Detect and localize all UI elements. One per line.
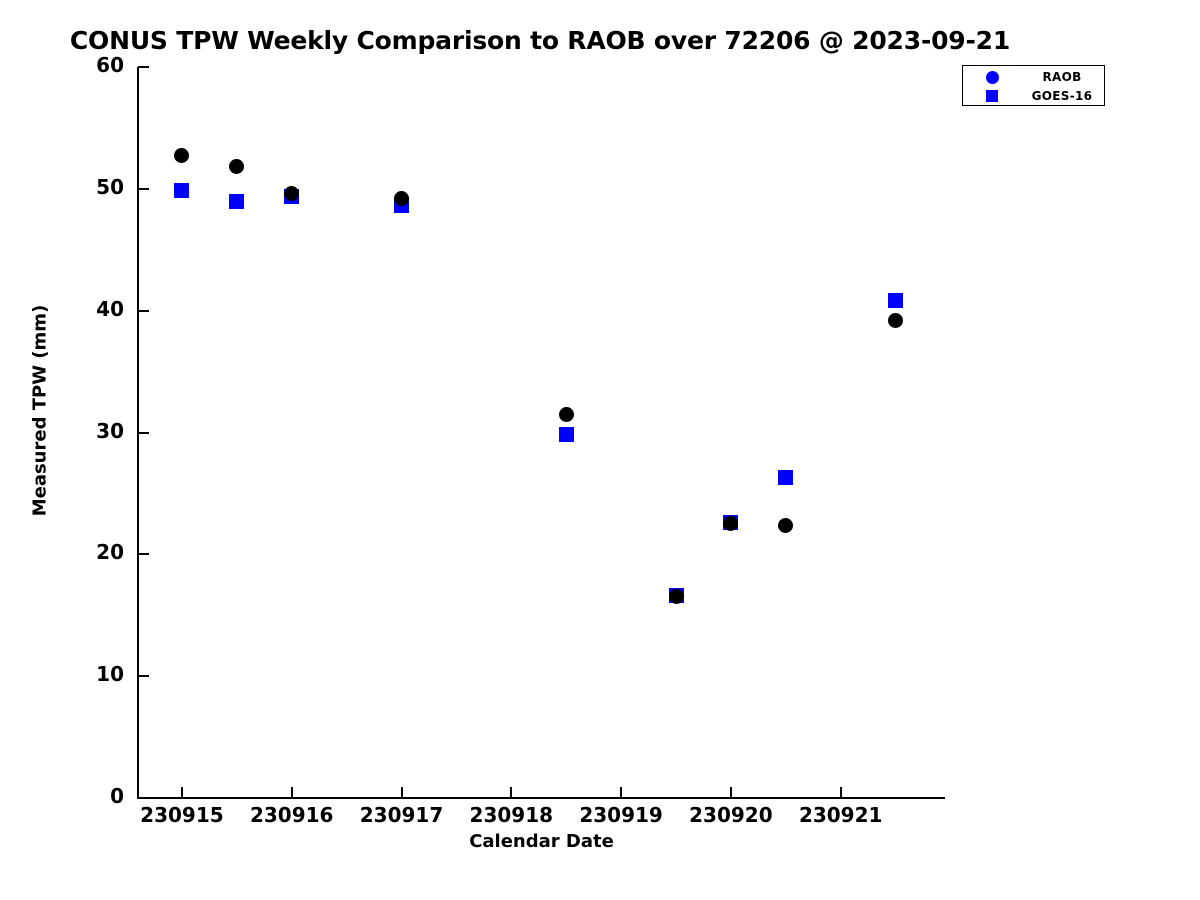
x-axis-label: Calendar Date: [138, 831, 945, 852]
data-point-goes-16: [559, 427, 574, 442]
y-axis-tick-label: 30: [64, 419, 124, 443]
y-axis-tick-label: 40: [64, 297, 124, 321]
legend-marker-container: [972, 87, 1012, 106]
legend-label: GOES-16: [1023, 89, 1101, 103]
data-point-goes-16: [229, 194, 244, 209]
data-point-raob: [778, 518, 793, 533]
x-axis-tick-label: 230921: [761, 803, 921, 827]
y-axis-tick-label: 20: [64, 540, 124, 564]
legend-item-goes-16[interactable]: GOES-16: [963, 87, 1106, 106]
data-point-raob: [174, 148, 189, 163]
chart-legend: RAOBGOES-16: [962, 65, 1105, 106]
data-point-raob: [394, 191, 409, 206]
data-point-raob: [229, 159, 244, 174]
data-point-raob: [559, 407, 574, 422]
chart-figure: CONUS TPW Weekly Comparison to RAOB over…: [0, 0, 1200, 900]
legend-circle-icon: [986, 71, 999, 84]
data-point-goes-16: [174, 183, 189, 198]
legend-marker-container: [972, 68, 1012, 87]
y-axis-tick-label: 10: [64, 662, 124, 686]
legend-square-icon: [986, 90, 998, 102]
data-point-goes-16: [888, 293, 903, 308]
y-axis-label: Measured TPW (mm): [30, 91, 51, 731]
y-axis-tick-label: 50: [64, 175, 124, 199]
plot-area: [138, 67, 945, 798]
chart-title: CONUS TPW Weekly Comparison to RAOB over…: [0, 26, 1080, 55]
data-point-goes-16: [778, 470, 793, 485]
data-point-raob: [888, 313, 903, 328]
legend-item-raob[interactable]: RAOB: [963, 68, 1106, 87]
legend-label: RAOB: [1023, 70, 1101, 84]
y-axis-tick-label: 60: [64, 53, 124, 77]
data-point-raob: [669, 589, 684, 604]
